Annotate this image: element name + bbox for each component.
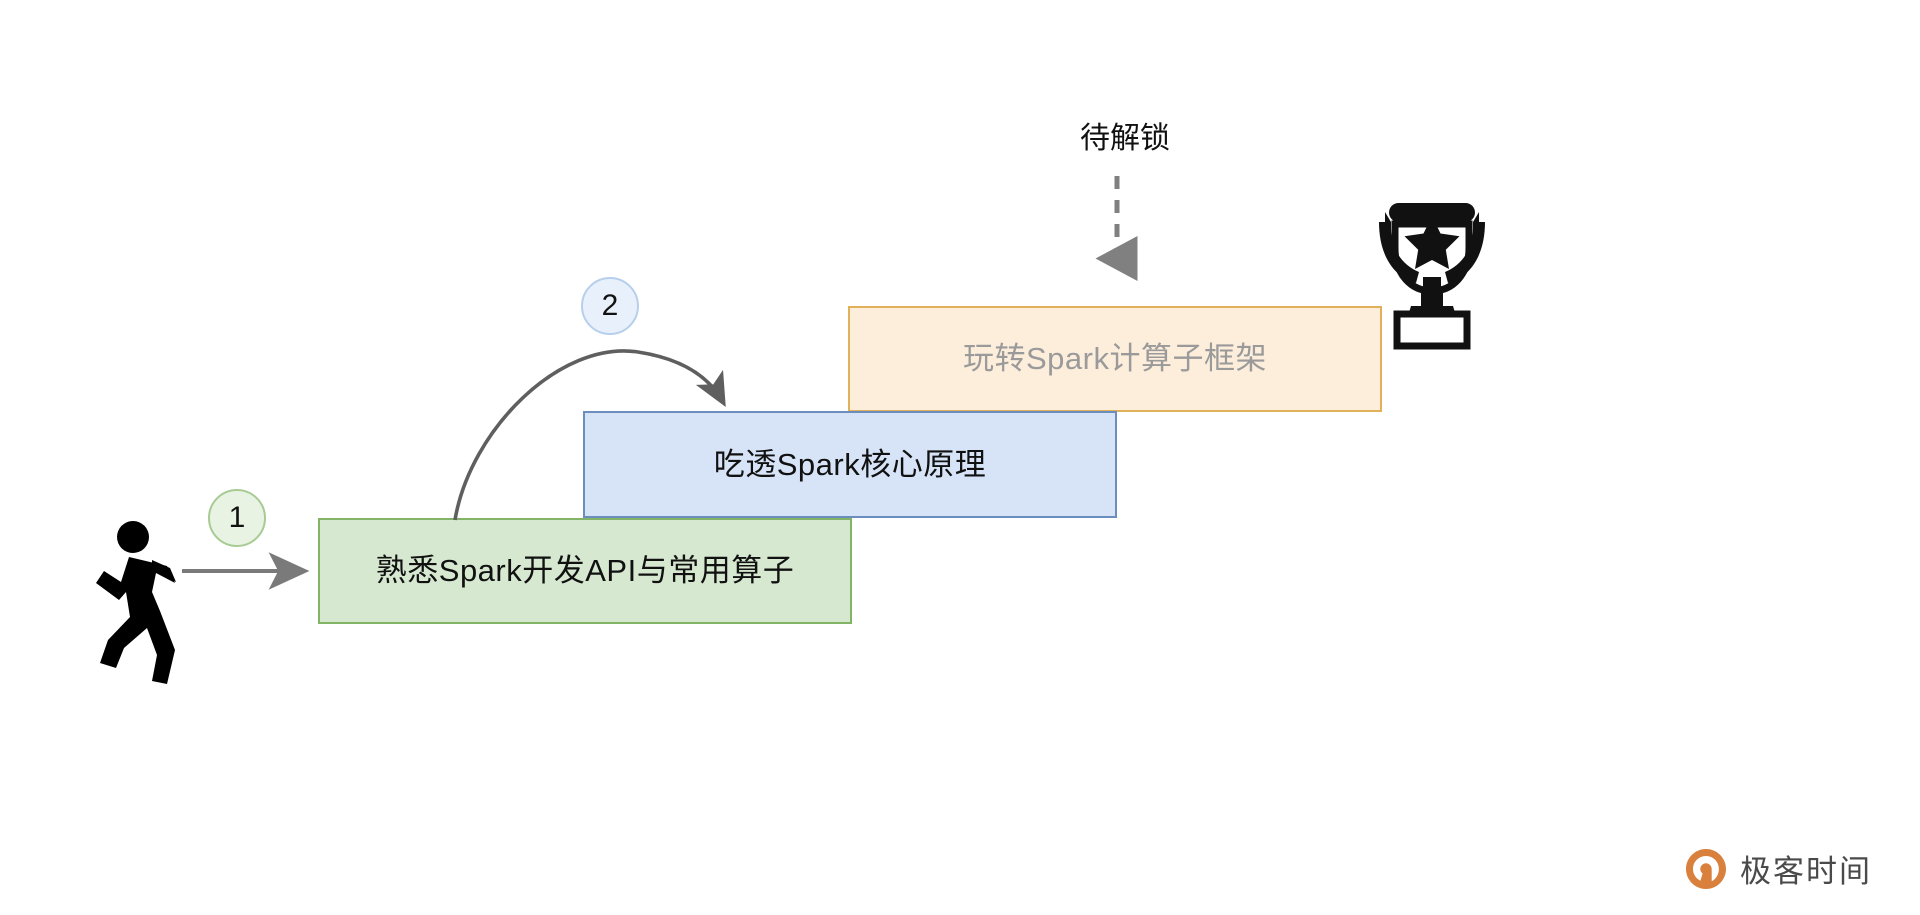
geekbang-mark-icon [1684, 847, 1728, 891]
step-badge-2: 2 [581, 277, 639, 335]
step-badge-2-number: 2 [602, 289, 619, 323]
step-badge-1-number: 1 [229, 501, 246, 535]
trophy-icon [1379, 203, 1485, 346]
vector-overlay [0, 0, 1920, 915]
step-badge-1: 1 [208, 489, 266, 547]
walking-person-icon [96, 521, 176, 684]
brand-logo: 极客时间 [1684, 846, 1872, 891]
brand-name: 极客时间 [1740, 846, 1872, 891]
arrow-green-to-blue [455, 351, 723, 520]
diagram-canvas: 玩转Spark计算子框架 吃透Spark核心原理 熟悉Spark开发API与常用… [0, 0, 1920, 915]
unlock-label: 待解锁 [1060, 113, 1190, 157]
